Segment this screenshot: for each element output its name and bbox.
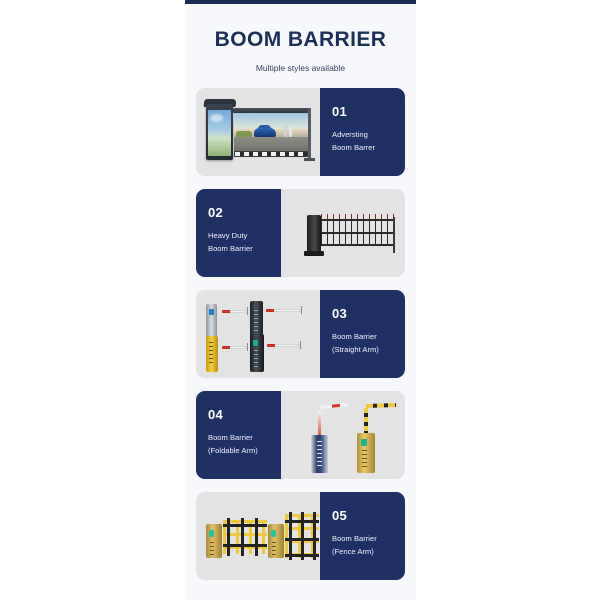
- hd-bottom-rail-icon: [321, 244, 395, 246]
- product-card-02[interactable]: 02 Heavy Duty Boom Barrier: [196, 189, 405, 277]
- hd-top-rail-icon: [321, 219, 395, 221]
- fence-unit1-post-3-icon: [255, 518, 258, 556]
- card-number: 04: [208, 408, 281, 421]
- fence-unit1-post-2-icon: [241, 518, 244, 556]
- product-card-list: 01 Adversting Boom Barrer 02 Heavy Duty …: [196, 88, 405, 593]
- foldable-blue-lower-arm-icon: [318, 411, 321, 437]
- ad-billboard-icon: [234, 113, 308, 151]
- card-caption-line2: (Foldable Arm): [208, 445, 281, 458]
- straight-unit-silver-arm-tip-icon: [247, 307, 248, 315]
- straight-unit-dark-arm-tip-icon: [301, 306, 302, 314]
- card-caption-line2: Boom Barrier: [208, 243, 281, 256]
- card-caption-line1: Boom Barrier: [208, 432, 281, 445]
- page-root: BOOM BARRIER Multiple styles available: [0, 0, 600, 600]
- foldable-blue-upper-arm-icon: [320, 403, 348, 409]
- ad-person-right-icon: [289, 125, 292, 137]
- straight-unit-silver-led-icon: [209, 309, 214, 315]
- foldable-gold-led-icon: [361, 439, 367, 446]
- ad-support-base-icon: [304, 158, 315, 161]
- fence-unit2-indicators-icon: [272, 542, 276, 558]
- card-caption-line1: Adversting: [332, 129, 405, 142]
- foldable-gold-lower-arm-icon: [364, 408, 368, 434]
- foldable-gold-upper-arm-icon: [366, 403, 396, 408]
- page-subtitle: Multiple styles available: [185, 52, 416, 73]
- card-caption-line2: Boom Barrer: [332, 142, 405, 155]
- straight-unit-black-arm-icon: [267, 344, 299, 347]
- ad-display-glow-icon: [210, 114, 223, 122]
- card-caption-line2: (Fence Arm): [332, 546, 405, 559]
- ad-person-left-icon: [284, 126, 287, 137]
- ad-skirt-stripes-icon: [234, 151, 308, 157]
- straight-unit-black-arm-tip-icon: [300, 341, 301, 349]
- ad-blue-car-icon: [254, 128, 276, 137]
- ad-support-post-icon: [308, 108, 311, 160]
- fence-unit2-post-2-icon: [301, 512, 304, 560]
- product-card-05[interactable]: 05 Boom Barrier (Fence Arm): [196, 492, 405, 580]
- product-card-label: 04 Boom Barrier (Foldable Arm): [196, 391, 281, 479]
- fence-unit1-led-icon: [209, 530, 214, 537]
- product-card-03[interactable]: 03 Boom Barrier (Straight Arm): [196, 290, 405, 378]
- fence-unit1-housing-icon: [206, 524, 222, 558]
- hd-base-icon: [304, 251, 324, 256]
- straight-unit-black-led-icon: [253, 340, 258, 346]
- advertising-boom-barrier-photo: [196, 88, 320, 176]
- hd-middle-rail-icon: [321, 232, 395, 234]
- fence-unit2-housing-icon: [268, 524, 284, 558]
- card-caption-line2: (Straight Arm): [332, 344, 405, 357]
- page-title: BOOM BARRIER: [185, 4, 416, 52]
- foldable-blue-indicators-icon: [317, 441, 322, 469]
- hd-housing-icon: [307, 215, 321, 253]
- product-card-04[interactable]: 04 Boom Barrier (Foldable Arm): [196, 391, 405, 479]
- card-caption-line1: Heavy Duty: [208, 230, 281, 243]
- fence-unit1-rail-top-icon: [223, 524, 267, 527]
- hd-end-post-icon: [393, 217, 395, 253]
- product-card-label: 03 Boom Barrier (Straight Arm): [320, 290, 405, 378]
- ad-road-icon: [234, 137, 308, 151]
- ad-sky-icon: [234, 113, 308, 129]
- fence-arm-barriers-photo: [196, 492, 320, 580]
- fence-unit1-post-1-icon: [227, 518, 230, 556]
- product-card-01[interactable]: 01 Adversting Boom Barrer: [196, 88, 405, 176]
- card-number: 02: [208, 206, 281, 219]
- straight-unit-yellow-arm-tip-icon: [247, 343, 248, 351]
- heavy-duty-fence-barrier-photo: [281, 189, 405, 277]
- product-card-label: 01 Adversting Boom Barrer: [320, 88, 405, 176]
- product-card-label: 05 Boom Barrier (Fence Arm): [320, 492, 405, 580]
- straight-unit-silver-arm-icon: [222, 310, 246, 313]
- card-number: 03: [332, 307, 405, 320]
- straight-unit-dark-arm-icon: [266, 309, 300, 312]
- card-number: 05: [332, 509, 405, 522]
- straight-unit-yellow-arm-icon: [222, 346, 246, 349]
- straight-unit-yellow-indicators-icon: [209, 342, 213, 366]
- card-number: 01: [332, 105, 405, 118]
- fence-unit2-post-3-icon: [313, 512, 316, 560]
- fence-unit2-post-1-icon: [289, 512, 292, 560]
- fence-unit2-led-icon: [271, 530, 276, 537]
- foldable-gold-indicators-icon: [362, 450, 367, 469]
- page-header: BOOM BARRIER Multiple styles available: [185, 4, 416, 73]
- fence-unit1-indicators-icon: [210, 542, 214, 558]
- straight-unit-black-indicators-icon: [254, 350, 258, 368]
- foldable-arm-barriers-photo: [281, 391, 405, 479]
- straight-arm-barriers-photo: [196, 290, 320, 378]
- product-card-label: 02 Heavy Duty Boom Barrier: [196, 189, 281, 277]
- fence-unit1-rail-bottom-icon: [223, 544, 267, 547]
- card-caption-line1: Boom Barrier: [332, 331, 405, 344]
- card-caption-line1: Boom Barrier: [332, 533, 405, 546]
- straight-unit-dark-indicators-icon: [254, 310, 258, 336]
